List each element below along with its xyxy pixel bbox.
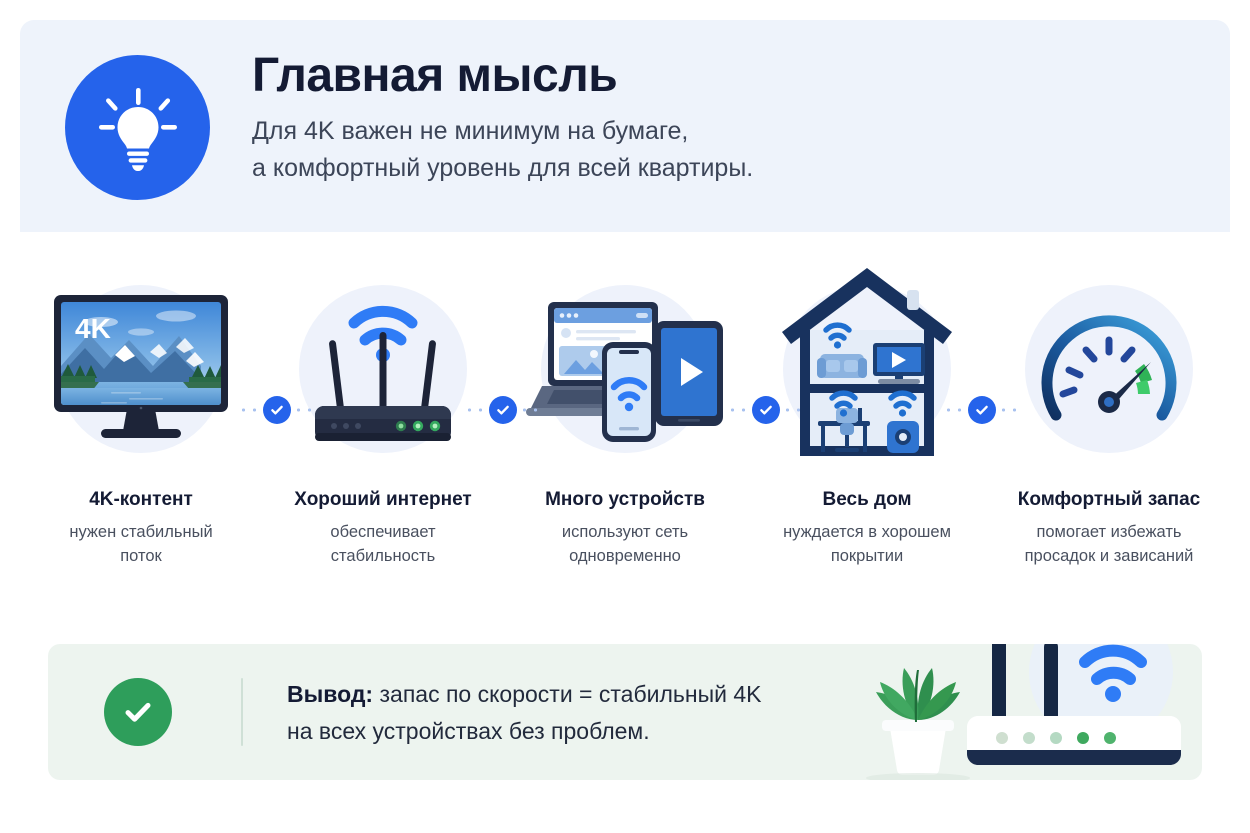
step-desc-line-2: стабильность <box>330 545 435 569</box>
subtitle-line-2: а комфортный уровень для всей квартиры. <box>252 150 1202 187</box>
step-title: Комфортный запас <box>1018 488 1200 512</box>
step-whole-house: Весь дом нуждается в хорошем покрытии <box>760 262 974 569</box>
subtitle-line-1: Для 4K важен не минимум на бумаге, <box>252 113 1202 150</box>
page-title: Главная мысль <box>252 48 1202 103</box>
multi-devices-icon <box>518 262 732 476</box>
conclusion-line-1-rest: запас по скорости = стабильный 4K <box>373 681 761 707</box>
page-subtitle: Для 4K важен не минимум на бумаге, а ком… <box>252 113 1202 187</box>
banner-divider <box>241 678 243 746</box>
step-comfort-margin: Комфортный запас помогает избежать проса… <box>1002 262 1216 569</box>
step-title: Много устройств <box>545 488 705 512</box>
step-title: Весь дом <box>822 488 911 512</box>
step-many-devices: Много устройств используют сеть одноврем… <box>518 262 732 569</box>
step-desc-line-1: обеспечивает <box>330 521 435 545</box>
wifi-router-icon <box>276 262 490 476</box>
header-text-block: Главная мысль Для 4K важен не минимум на… <box>252 48 1202 187</box>
step-title: 4K-контент <box>89 488 193 512</box>
speedometer-icon <box>1002 262 1216 476</box>
step-desc-line-2: одновременно <box>562 545 688 569</box>
step-desc-line-1: помогает избежать <box>1025 521 1194 545</box>
infographic-page: Главная мысль Для 4K важен не минимум на… <box>0 0 1250 833</box>
conclusion-line-1: Вывод: запас по скорости = стабильный 4K <box>287 676 867 713</box>
step-desc-line-1: нуждается в хорошем <box>783 521 951 545</box>
step-description: помогает избежать просадок и зависаний <box>1025 521 1194 569</box>
conclusion-label: Вывод: <box>287 681 373 707</box>
step-description: нуждается в хорошем покрытии <box>783 521 951 569</box>
step-description: используют сеть одновременно <box>562 521 688 569</box>
header-band: Главная мысль Для 4K важен не минимум на… <box>20 20 1230 232</box>
router-plant-wifi-illustration <box>842 644 1202 780</box>
lightbulb-icon <box>65 55 210 200</box>
step-desc-line-2: поток <box>69 545 212 569</box>
step-desc-line-1: используют сеть <box>562 521 688 545</box>
step-title: Хороший интернет <box>294 488 471 512</box>
conclusion-banner: Вывод: запас по скорости = стабильный 4K… <box>48 644 1202 780</box>
conclusion-line-2: на всех устройствах без проблем. <box>287 713 867 750</box>
step-description: нужен стабильный поток <box>69 521 212 569</box>
svg-text:4K: 4K <box>75 313 111 344</box>
check-circle-icon <box>104 678 172 746</box>
tv-4k-icon: 4K <box>34 262 248 476</box>
step-desc-line-2: просадок и зависаний <box>1025 545 1194 569</box>
step-desc-line-2: покрытии <box>783 545 951 569</box>
step-desc-line-1: нужен стабильный <box>69 521 212 545</box>
steps-row: 4K 4K-контент нужен стабильный поток <box>20 262 1230 602</box>
conclusion-text: Вывод: запас по скорости = стабильный 4K… <box>287 676 867 750</box>
step-description: обеспечивает стабильность <box>330 521 435 569</box>
step-good-internet: Хороший интернет обеспечивает стабильнос… <box>276 262 490 569</box>
house-coverage-icon <box>760 262 974 476</box>
step-4k-content: 4K 4K-контент нужен стабильный поток <box>34 262 248 569</box>
